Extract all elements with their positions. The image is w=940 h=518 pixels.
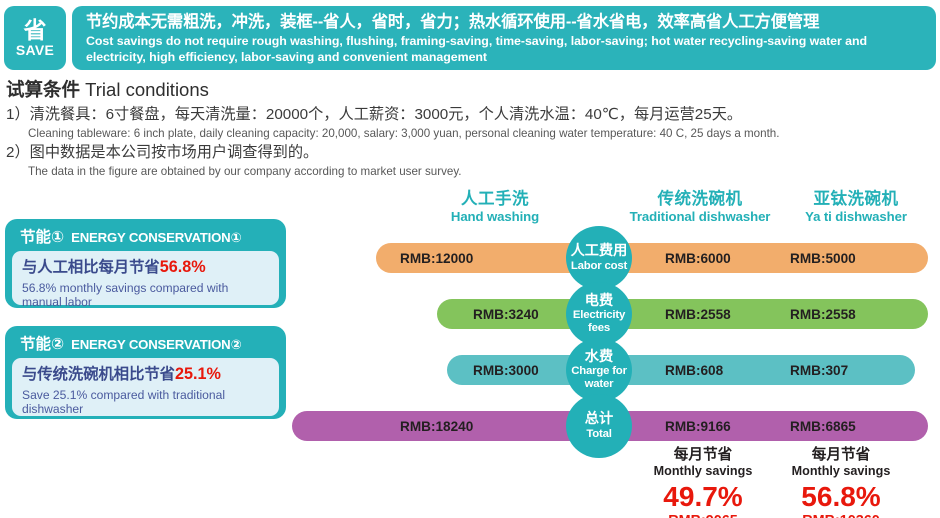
row-label-electricity-fees-cn: 电费 <box>585 294 613 310</box>
trial-title: 试算条件 Trial conditions <box>6 78 936 103</box>
column-header-yati-en: Ya ti dishwasher <box>772 209 940 225</box>
column-header-traditional-en: Traditional dishwasher <box>600 209 800 225</box>
card-1-main-line: 与人工相比每月节省56.8% <box>22 257 270 278</box>
banner-headline-cn: 节约成本无需粗洗，冲洗，装框--省人，省时，省力；热水循环使用--省水省电，效率… <box>86 11 924 33</box>
infographic-page: 省 SAVE 节约成本无需粗洗，冲洗，装框--省人，省时，省力；热水循环使用--… <box>0 0 940 518</box>
condition-item-2: 2）图中数据是本公司按市场用户调查得到的。 The data in the fi… <box>6 142 936 179</box>
monthly-savings-yati-amount: RMB:10360 <box>766 513 916 518</box>
monthly-savings-yati: 每月节省 Monthly savings 56.8% RMB:10360 <box>766 447 916 518</box>
row-label-labor-cost-cn: 人工费用 <box>571 244 628 260</box>
column-header-hand-washing-en: Hand washing <box>400 209 590 225</box>
monthly-savings-yati-en: Monthly savings <box>766 464 916 479</box>
condition-1-en: Cleaning tableware: 6 inch plate, daily … <box>6 126 936 142</box>
value-electricity-traditional: RMB:2558 <box>665 308 731 322</box>
save-badge-en: SAVE <box>16 42 54 58</box>
card-1-header: 节能① ENERGY CONSERVATION① <box>12 225 279 251</box>
card-1-body: 与人工相比每月节省56.8% 56.8% monthly savings com… <box>12 251 279 305</box>
card-1-prefix: 与人工相比每月节省 <box>22 259 160 276</box>
banner-headline-en: Cost savings do not require rough washin… <box>86 34 924 66</box>
card-1-sub-line: 56.8% monthly savings compared with manu… <box>22 281 270 310</box>
value-labor-hand: RMB:12000 <box>400 252 473 266</box>
save-badge: 省 SAVE <box>4 6 66 70</box>
row-label-charge-for-water: 水费 Charge for water <box>566 338 632 402</box>
card-2-header-cn: 节能② <box>20 332 64 354</box>
value-total-traditional: RMB:9166 <box>665 420 731 434</box>
row-label-labor-cost: 人工费用 Labor cost <box>566 226 632 290</box>
monthly-savings-traditional-en: Monthly savings <box>628 464 778 479</box>
energy-conservation-card-1: 节能① ENERGY CONSERVATION① 与人工相比每月节省56.8% … <box>5 219 286 308</box>
value-water-hand: RMB:3000 <box>473 364 539 378</box>
card-2-prefix: 与传统洗碗机相比节省 <box>22 366 175 383</box>
energy-conservation-card-2: 节能② ENERGY CONSERVATION② 与传统洗碗机相比节省25.1%… <box>5 326 286 419</box>
row-label-total-en: Total <box>586 428 611 441</box>
value-electricity-yati: RMB:2558 <box>790 308 856 322</box>
card-2-sub-line: Save 25.1% compared with traditional dis… <box>22 388 270 417</box>
monthly-savings-yati-cn: 每月节省 <box>766 447 916 464</box>
condition-2-en: The data in the figure are obtained by o… <box>6 164 936 180</box>
value-electricity-hand: RMB:3240 <box>473 308 539 322</box>
value-water-traditional: RMB:608 <box>665 364 723 378</box>
column-header-hand-washing-cn: 人工手洗 <box>400 190 590 209</box>
save-badge-cn: 省 <box>24 18 47 42</box>
column-header-yati: 亚钛洗碗机 Ya ti dishwasher <box>772 190 940 225</box>
row-label-electricity-fees-en: Electricity fees <box>566 309 632 334</box>
monthly-savings-traditional-percent: 49.7% <box>628 480 778 513</box>
monthly-savings-traditional-amount: RMB:9065 <box>628 513 778 518</box>
card-2-header: 节能② ENERGY CONSERVATION② <box>12 332 279 358</box>
column-header-hand-washing: 人工手洗 Hand washing <box>400 190 590 225</box>
monthly-savings-traditional-cn: 每月节省 <box>628 447 778 464</box>
row-label-charge-for-water-en: Charge for water <box>566 365 632 390</box>
row-label-total-cn: 总计 <box>585 412 613 428</box>
top-banner: 省 SAVE 节约成本无需粗洗，冲洗，装框--省人，省时，省力；热水循环使用--… <box>4 6 936 70</box>
value-water-yati: RMB:307 <box>790 364 848 378</box>
condition-2-cn: 2）图中数据是本公司按市场用户调查得到的。 <box>6 142 936 164</box>
card-2-header-en: ENERGY CONSERVATION② <box>71 337 241 353</box>
row-label-labor-cost-en: Labor cost <box>571 260 627 273</box>
column-header-traditional: 传统洗碗机 Traditional dishwasher <box>600 190 800 225</box>
trial-title-en: Trial conditions <box>85 79 209 100</box>
condition-1-cn: 1）清洗餐具：6寸餐盘，每天清洗量：20000个，人工薪资：3000元，个人清洗… <box>6 104 936 126</box>
row-label-charge-for-water-cn: 水费 <box>585 350 613 366</box>
column-header-yati-cn: 亚钛洗碗机 <box>772 190 940 209</box>
row-label-total: 总计 Total <box>566 394 632 458</box>
card-1-header-en: ENERGY CONSERVATION① <box>71 230 241 246</box>
card-2-highlight: 25.1% <box>175 365 221 383</box>
row-label-electricity-fees: 电费 Electricity fees <box>566 282 632 346</box>
column-header-traditional-cn: 传统洗碗机 <box>600 190 800 209</box>
card-2-main-line: 与传统洗碗机相比节省25.1% <box>22 364 270 385</box>
banner-text-block: 节约成本无需粗洗，冲洗，装框--省人，省时，省力；热水循环使用--省水省电，效率… <box>72 6 936 70</box>
value-total-yati: RMB:6865 <box>790 420 856 434</box>
value-total-hand: RMB:18240 <box>400 420 473 434</box>
monthly-savings-traditional: 每月节省 Monthly savings 49.7% RMB:9065 <box>628 447 778 518</box>
monthly-savings-yati-percent: 56.8% <box>766 480 916 513</box>
card-1-highlight: 56.8% <box>160 258 206 276</box>
card-2-body: 与传统洗碗机相比节省25.1% Save 25.1% compared with… <box>12 358 279 416</box>
card-1-header-cn: 节能① <box>20 225 64 247</box>
value-labor-traditional: RMB:6000 <box>665 252 731 266</box>
trial-title-cn: 试算条件 <box>6 79 80 100</box>
trial-conditions-section: 试算条件 Trial conditions 1）清洗餐具：6寸餐盘，每天清洗量：… <box>6 78 936 179</box>
condition-item-1: 1）清洗餐具：6寸餐盘，每天清洗量：20000个，人工薪资：3000元，个人清洗… <box>6 104 936 141</box>
value-labor-yati: RMB:5000 <box>790 252 856 266</box>
